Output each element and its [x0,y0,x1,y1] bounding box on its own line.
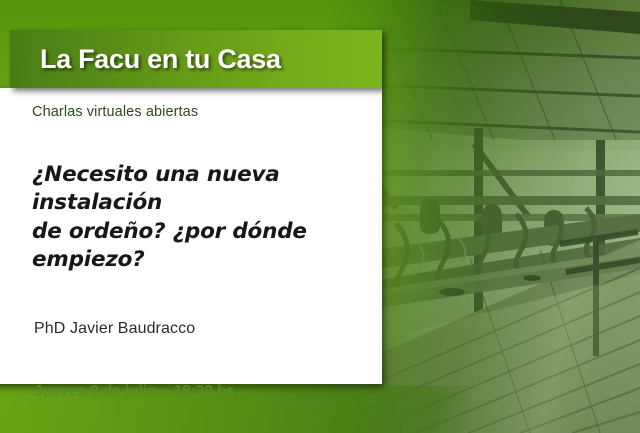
headline-line-2: de ordeño? ¿por dónde empiezo? [32,218,360,275]
kicker-text: Charlas virtuales abiertas [32,104,360,120]
banner-title: La Facu en tu Casa [10,44,281,75]
speaker-name: PhD Javier Baudracco [32,275,360,338]
headline: ¿Necesito una nueva instalación de ordeñ… [32,120,360,275]
headline-line-1: ¿Necesito una nueva instalación [32,161,360,218]
event-datetime: Jueves 8 de julio ~ 18:30 hs [32,338,360,401]
title-banner: La Facu en tu Casa [10,30,382,88]
poster-canvas: La Facu en tu Casa Charlas virtuales abi… [0,0,640,433]
card-content: Charlas virtuales abiertas ¿Necesito una… [0,88,382,384]
